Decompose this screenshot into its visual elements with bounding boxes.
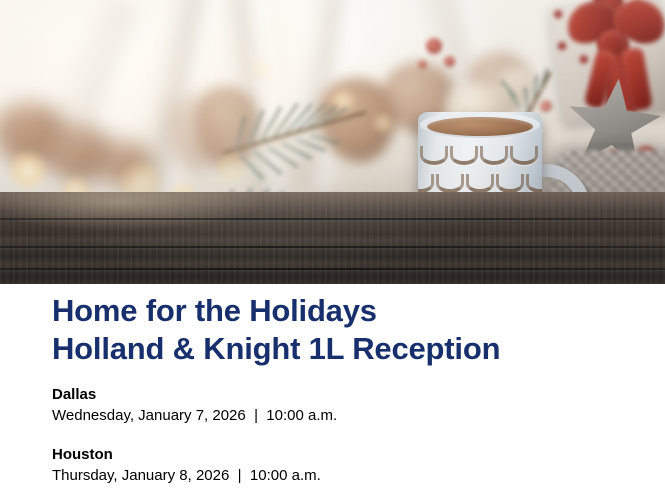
event-datetime: Thursday, January 8, 2026 | 10:00 a.m.: [52, 465, 321, 486]
event-houston: Houston Thursday, January 8, 2026 | 10:0…: [52, 444, 321, 486]
wood-table: [0, 192, 665, 284]
title-line-1: Home for the Holidays: [52, 292, 500, 330]
title-line-2: Holland & Knight 1L Reception: [52, 330, 500, 368]
event-flyer: Home for the Holidays Holland & Knight 1…: [0, 0, 665, 494]
hero-photo: [0, 0, 665, 284]
event-city: Houston: [52, 444, 321, 465]
event-datetime: Wednesday, January 7, 2026 | 10:00 a.m.: [52, 405, 337, 426]
page-title: Home for the Holidays Holland & Knight 1…: [52, 292, 500, 368]
cocoa-surface: [427, 117, 533, 136]
event-dallas: Dallas Wednesday, January 7, 2026 | 10:0…: [52, 384, 337, 426]
flyer-text-block: Home for the Holidays Holland & Knight 1…: [0, 284, 665, 494]
event-city: Dallas: [52, 384, 337, 405]
